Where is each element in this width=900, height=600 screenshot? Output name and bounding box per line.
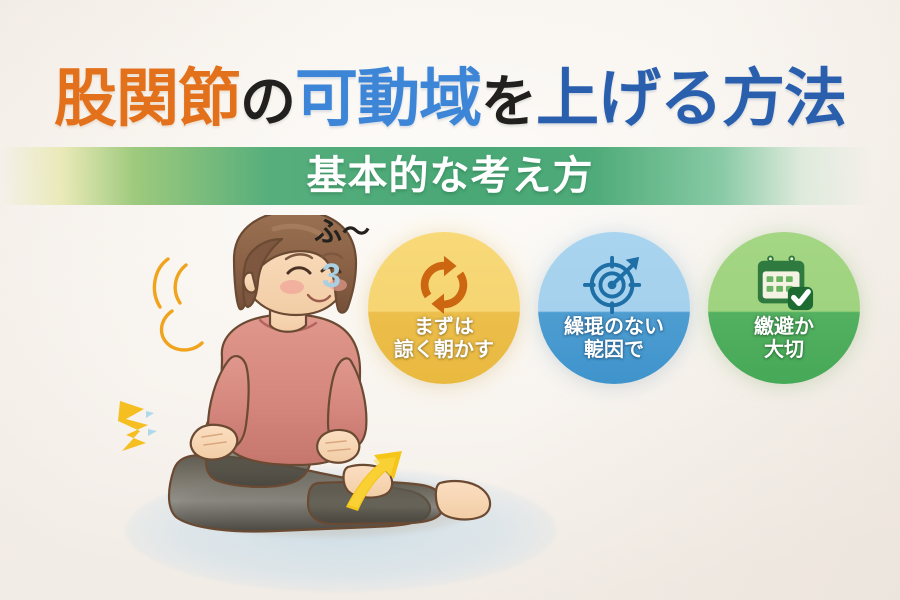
- bubble-3-label: 繳避か 大切: [708, 316, 860, 362]
- bubble-2-label-line1: 繰琨のない: [564, 316, 664, 338]
- bubble-2[interactable]: 繰琨のない 軶因で: [538, 232, 690, 384]
- bubble-1-label-line2: 諒く朝かす: [368, 339, 520, 362]
- refresh-cycle-icon: [413, 252, 475, 314]
- calendar-check-icon: [753, 252, 815, 314]
- title-segment-orange: 股関節: [54, 68, 240, 131]
- infographic-canvas: 股関節の可動域を上げる方法 基本的な考え方: [0, 0, 900, 600]
- bubble-2-label: 繰琨のない 軶因で: [538, 316, 690, 362]
- title-segment-navy: 上げる方法: [536, 68, 846, 131]
- page-title: 股関節の可動域を上げる方法: [0, 68, 900, 131]
- bubble-2-label-line2: 軶因で: [538, 339, 690, 362]
- bubble-3-label-line1: 繳避か: [754, 316, 814, 338]
- bubble-1[interactable]: まずは 諒く朝かす: [368, 232, 520, 384]
- title-segment-black-2: を: [481, 74, 536, 130]
- bubble-1-label: まずは 諒く朝かす: [368, 316, 520, 362]
- subtitle-text: 基本的な考え方: [0, 150, 900, 202]
- bubble-3-label-line2: 大切: [708, 339, 860, 362]
- target-arrow-icon: [583, 252, 645, 314]
- title-segment-blue: 可動域: [295, 68, 481, 131]
- bubble-1-label-line1: まずは: [414, 316, 474, 338]
- bubble-group: まずは 諒く朝かす: [360, 232, 860, 407]
- title-segment-black-1: の: [240, 74, 295, 130]
- bubble-3[interactable]: 繳避か 大切: [708, 232, 860, 384]
- breath-mark: 3: [322, 257, 341, 295]
